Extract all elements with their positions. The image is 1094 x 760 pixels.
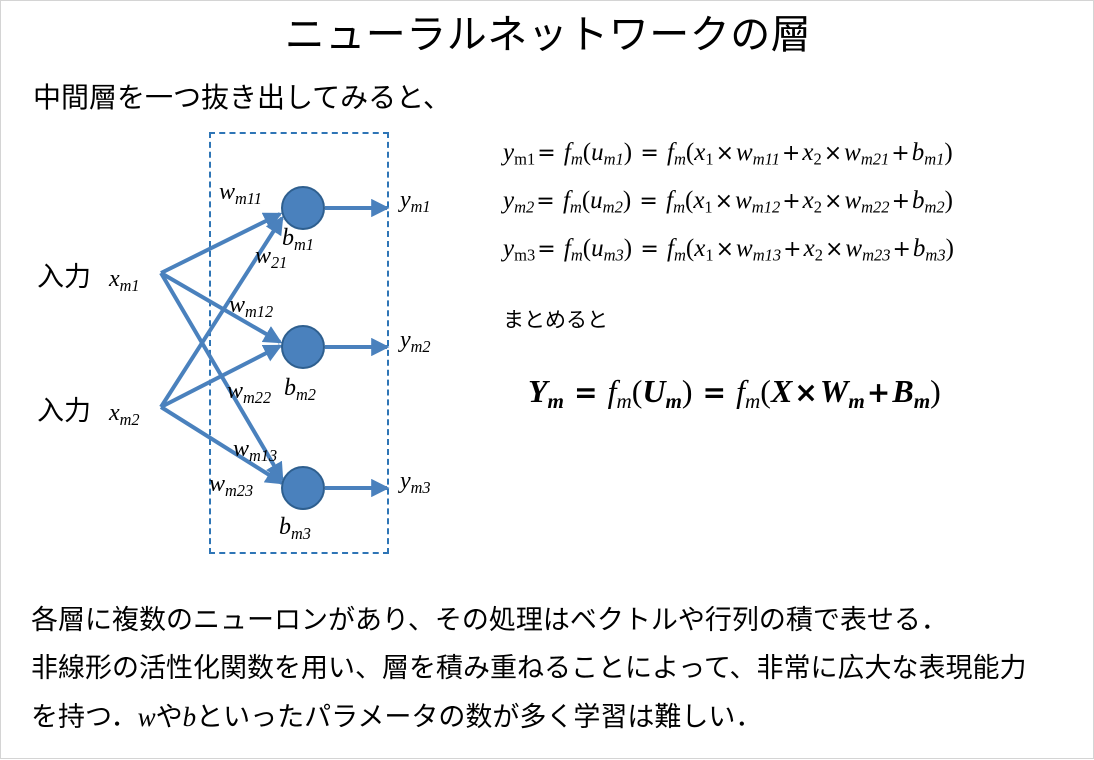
input-label-1-jp: 入力	[37, 262, 91, 292]
sum-lhs-var: Y	[528, 373, 548, 409]
weight-label-m13-var: w	[233, 436, 249, 462]
input-label-1: 入力 xm1	[37, 255, 140, 296]
output-label-m1: ym1	[400, 187, 431, 217]
equation-line-3: ym3= fm(um3) = fm(x1×wm13+x2×wm23+bm3)	[503, 232, 954, 273]
weight-label-m22-var: w	[227, 378, 243, 404]
body-line3-part-b: や	[156, 702, 183, 732]
eq3-mid-arg: u	[591, 235, 604, 262]
eq2-mid-fn: f	[563, 187, 570, 214]
body-text-line-3: を持つ．wやbといったパラメータの数が多く学習は難しい．	[31, 698, 762, 736]
weight-label-m12-sub: m12	[245, 302, 273, 321]
eq1-rhs-fn-sub: m	[674, 150, 686, 169]
eq2-t1-sub: 1	[704, 198, 712, 217]
eq1-times-1: ×	[714, 141, 736, 166]
eq1-plus-2: +	[889, 141, 911, 166]
eq2-times-1: ×	[713, 189, 735, 214]
eq1-lhs-var: y	[503, 139, 514, 166]
eq2-t1-var: x	[693, 187, 704, 214]
summary-intro-text: まとめると	[503, 304, 608, 334]
eq1-equals-1: =	[535, 141, 557, 166]
eq3-times-2: ×	[823, 237, 845, 262]
sum-arg-sub: m	[665, 389, 681, 413]
equation-line-2: ym2= fm(um2) = fm(x1×wm12+x2×wm22+bm2)	[503, 184, 953, 225]
output-label-m2-var: y	[400, 327, 411, 353]
bias-label-m1: bm1	[282, 225, 314, 255]
eq2-rhs-fn-sub: m	[673, 198, 685, 217]
eq1-t2-var: w	[736, 139, 753, 166]
eq1-t1-var: x	[694, 139, 705, 166]
output-label-m3-sub: m3	[411, 478, 431, 497]
sum-fn2-sub: m	[745, 389, 760, 413]
sum-fn2: f	[736, 373, 745, 409]
weight-label-m13: wm13	[233, 436, 277, 466]
bias-label-m3: bm3	[279, 514, 311, 544]
eq2-lhs-var: y	[503, 187, 514, 214]
eq2-t5-sub: m2	[925, 198, 945, 217]
eq2-times-2: ×	[822, 189, 844, 214]
weight-label-m22-sub: m22	[243, 388, 271, 407]
input-label-2-sub: m2	[120, 410, 140, 429]
sum-b-var: B	[892, 373, 913, 409]
output-label-m2-sub: m2	[411, 337, 431, 356]
eq1-t4-var: w	[844, 139, 861, 166]
sum-w-var: W	[820, 373, 848, 409]
eq2-mid-arg: u	[590, 187, 603, 214]
eq2-t4-sub: m22	[861, 198, 889, 217]
body-line3-part-c: といったパラメータの数が多く学習は難しい．	[196, 702, 762, 732]
bias-label-m2: bm2	[284, 375, 316, 405]
eq2-lhs-sub: m2	[514, 198, 534, 217]
eq1-t5-sub: m1	[924, 150, 944, 169]
sum-b-sub: m	[914, 389, 930, 413]
eq1-t1-sub: 1	[705, 150, 713, 169]
sum-arg: U	[642, 373, 665, 409]
eq2-mid-fn-sub: m	[570, 198, 582, 217]
eq3-lhs-var: y	[503, 235, 514, 262]
bias-label-m1-var: b	[282, 225, 294, 251]
eq2-t3-var: x	[803, 187, 814, 214]
eq3-mid-arg-sub: m3	[604, 246, 624, 265]
weight-label-m23-sub: m23	[225, 481, 253, 500]
eq1-mid-fn: f	[564, 139, 571, 166]
subtitle-text: 中間層を一つ抜き出してみると、	[33, 79, 451, 117]
eq1-t2-sub: m11	[753, 150, 780, 169]
output-label-m1-var: y	[400, 187, 411, 213]
eq3-t1-sub: 1	[705, 246, 713, 265]
body-line3-part-a: を持つ．	[31, 702, 138, 732]
input-label-1-sub: m1	[120, 276, 140, 295]
input-label-2-jp: 入力	[37, 396, 91, 426]
eq1-times-2: ×	[822, 141, 844, 166]
weight-label-m11-var: w	[219, 179, 235, 205]
eq1-equals-2: =	[638, 141, 660, 166]
output-label-m3: ym3	[400, 468, 431, 498]
bias-label-m2-sub: m2	[296, 385, 316, 404]
page-title: ニューラルネットワークの層	[1, 9, 1094, 61]
eq3-t5-sub: m3	[925, 246, 945, 265]
weight-label-m11: wm11	[219, 179, 262, 209]
output-label-m3-var: y	[400, 468, 411, 494]
eq2-t5-var: b	[912, 187, 925, 214]
body-text-line-1: 各層に複数のニューロンがあり、その処理はベクトルや行列の積で表せる．	[31, 601, 948, 639]
weight-label-m23: wm23	[209, 471, 253, 501]
eq3-rhs-fn-sub: m	[674, 246, 686, 265]
input-label-1-var: x	[109, 266, 120, 292]
eq2-equals-2: =	[637, 189, 659, 214]
sum-w-sub: m	[848, 389, 864, 413]
weight-label-m12: wm12	[229, 292, 273, 322]
eq3-mid-fn: f	[564, 235, 571, 262]
eq1-t3-sub: 2	[813, 150, 821, 169]
eq1-t4-sub: m21	[861, 150, 889, 169]
weight-label-21-sub: 21	[271, 253, 287, 272]
eq3-plus-2: +	[890, 237, 912, 262]
eq1-rhs-fn: f	[667, 139, 674, 166]
eq3-equals-2: =	[638, 237, 660, 262]
body-line3-b-var: b	[183, 702, 197, 732]
sum-plus: +	[865, 376, 893, 409]
eq3-t5-var: b	[913, 235, 926, 262]
weight-label-m13-sub: m13	[249, 446, 277, 465]
eq2-t3-sub: 2	[814, 198, 822, 217]
slide-canvas: ニューラルネットワークの層 中間層を一つ抜き出してみると、	[0, 0, 1094, 759]
eq3-t1-var: x	[694, 235, 705, 262]
eq1-t5-var: b	[912, 139, 925, 166]
bias-label-m3-var: b	[279, 514, 291, 540]
output-label-m2: ym2	[400, 327, 431, 357]
eq3-rhs-fn: f	[667, 235, 674, 262]
eq1-t3-var: x	[802, 139, 813, 166]
body-line3-w-var: w	[138, 702, 156, 732]
weight-label-m23-var: w	[209, 471, 225, 497]
eq3-plus-1: +	[781, 237, 803, 262]
eq2-plus-2: +	[890, 189, 912, 214]
bias-label-m2-var: b	[284, 375, 296, 401]
eq2-t4-var: w	[844, 187, 861, 214]
bias-label-m1-sub: m1	[294, 235, 314, 254]
eq2-t2-var: w	[735, 187, 752, 214]
eq3-mid-fn-sub: m	[571, 246, 583, 265]
sum-fn-sub: m	[616, 389, 631, 413]
neuron-2[interactable]	[281, 325, 325, 369]
summary-equation: Ym = fm(Um) = fm(X×Wm+Bm)	[528, 373, 941, 414]
weight-label-m12-var: w	[229, 292, 245, 318]
sum-times: ×	[792, 376, 820, 409]
sum-equals-1: =	[572, 376, 600, 409]
eq3-t4-var: w	[845, 235, 862, 262]
eq2-t2-sub: m12	[752, 198, 780, 217]
eq3-times-1: ×	[714, 237, 736, 262]
eq3-t2-var: w	[736, 235, 753, 262]
eq3-equals-1: =	[535, 237, 557, 262]
neuron-1[interactable]	[281, 186, 325, 230]
eq2-mid-arg-sub: m2	[603, 198, 623, 217]
sum-x-var: X	[771, 373, 792, 409]
weight-label-m22: wm22	[227, 378, 271, 408]
body-text-line-2: 非線形の活性化関数を用い、層を積み重ねることによって、非常に広大な表現能力	[31, 649, 1027, 687]
sum-lhs-sub: m	[548, 389, 564, 413]
eq2-equals-1: =	[534, 189, 556, 214]
bias-label-m3-sub: m3	[291, 524, 311, 543]
eq3-t2-sub: m13	[753, 246, 781, 265]
sum-equals-2: =	[701, 376, 729, 409]
eq3-t4-sub: m23	[862, 246, 890, 265]
weight-label-m11-sub: m11	[235, 189, 262, 208]
eq2-plus-1: +	[780, 189, 802, 214]
input-label-2: 入力 xm2	[37, 389, 140, 430]
eq3-t3-sub: 2	[815, 246, 823, 265]
eq3-lhs-sub: m3	[514, 246, 535, 265]
weight-label-21-var: w	[255, 243, 271, 269]
eq1-mid-arg-sub: m1	[604, 150, 624, 169]
eq1-lhs-sub: m1	[514, 150, 535, 169]
output-label-m1-sub: m1	[411, 197, 431, 216]
eq1-mid-fn-sub: m	[571, 150, 583, 169]
input-label-2-var: x	[109, 400, 120, 426]
equation-line-1: ym1= fm(um1) = fm(x1×wm11+x2×wm21+bm1)	[503, 136, 953, 177]
neuron-3[interactable]	[281, 466, 325, 510]
eq1-plus-1: +	[780, 141, 802, 166]
eq1-mid-arg: u	[591, 139, 604, 166]
eq3-t3-var: x	[804, 235, 815, 262]
